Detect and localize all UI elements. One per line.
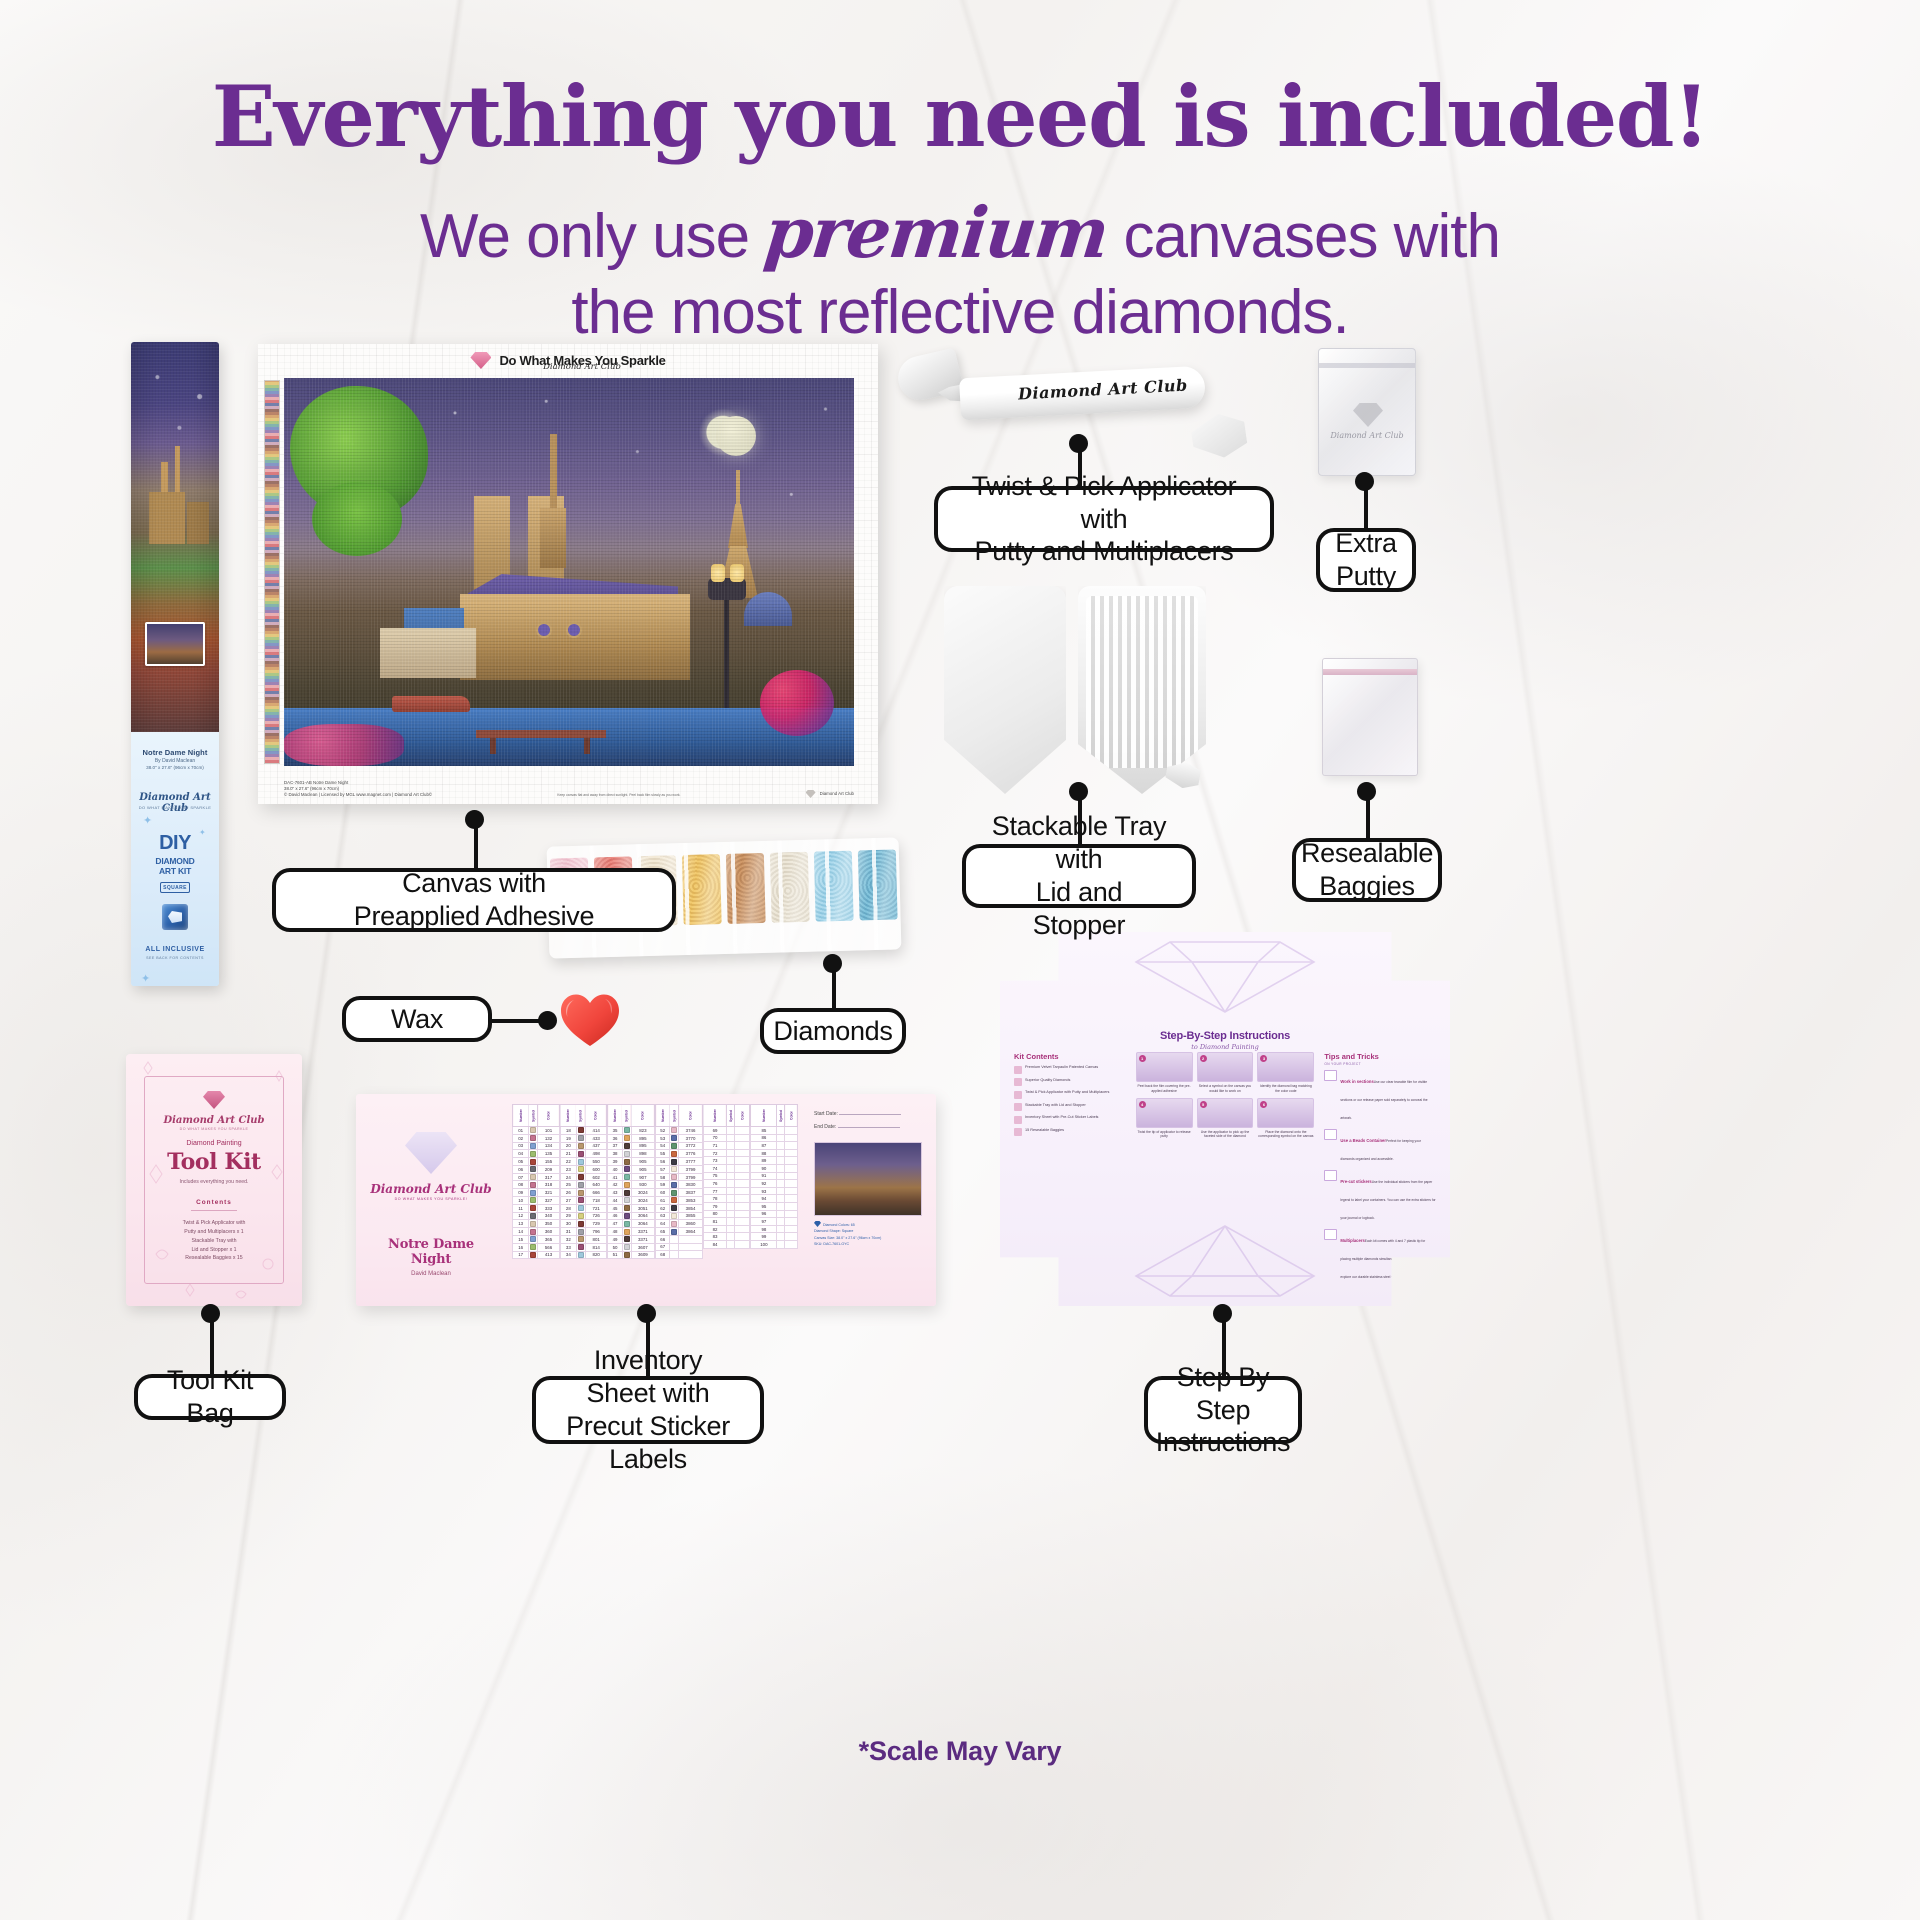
cell-symbol-swatch <box>777 1195 785 1203</box>
cell-color-code: 209 <box>538 1165 559 1173</box>
leader-dot-wax <box>538 1011 557 1030</box>
cell-color-code: 317 <box>538 1173 559 1181</box>
wax-heart-icon <box>559 992 621 1048</box>
color-swatch <box>578 1174 584 1180</box>
cell-color-code: 365 <box>538 1235 559 1243</box>
cell-color-code: 814 <box>585 1243 606 1251</box>
inventory-sheet: Diamond Art Club DO WHAT MAKES YOU SPARK… <box>356 1094 936 1306</box>
cell-symbol-swatch <box>576 1142 585 1150</box>
cell-color-code <box>785 1134 798 1142</box>
inventory-meta-item: Diamond Colors: 65 <box>823 1223 855 1227</box>
cell-number: 33 <box>560 1243 576 1251</box>
step-image: 1 <box>1136 1052 1193 1082</box>
inventory-column: Number Symbol Color 35823368953789538898… <box>607 1104 655 1296</box>
callout-canvas[interactable]: Canvas withPreapplied Adhesive <box>272 868 676 932</box>
table-row: 623854 <box>656 1204 703 1212</box>
table-row: 503607 <box>608 1243 655 1251</box>
instructions-header: Step-By-Step Instructions to Diamond Pai… <box>1000 1030 1450 1051</box>
cell-color-code: 3860 <box>679 1220 702 1228</box>
color-swatch <box>578 1229 584 1235</box>
column-header-number: Number <box>751 1105 777 1127</box>
cell-number: 10 <box>513 1197 529 1205</box>
extra-putty-baggie: Diamond Art Club <box>1318 348 1416 476</box>
cell-symbol-swatch <box>622 1134 631 1142</box>
cell-symbol-swatch <box>576 1165 585 1173</box>
table-row: 69 <box>703 1127 750 1135</box>
cell-color-code: 905 <box>631 1158 654 1166</box>
table-row: 513609 <box>608 1251 655 1259</box>
cell-color-code: 895 <box>631 1134 654 1142</box>
cell-number: 64 <box>656 1220 670 1228</box>
cell-number: 61 <box>656 1197 670 1205</box>
cell-number: 16 <box>513 1243 529 1251</box>
toolkit-content-item: Twist & Pick Applicator with <box>154 1219 274 1228</box>
cell-symbol-swatch <box>727 1218 735 1226</box>
color-swatch <box>578 1244 584 1250</box>
cell-symbol-swatch <box>670 1228 679 1236</box>
cell-number: 41 <box>608 1173 622 1181</box>
cell-symbol-swatch <box>727 1240 735 1248</box>
table-row: 453051 <box>608 1204 655 1212</box>
table-row: 90 <box>751 1164 798 1172</box>
callout-step-by-step[interactable]: Step By StepInstructions <box>1144 1376 1302 1444</box>
table-row: 39905 <box>608 1158 655 1166</box>
cell-symbol-swatch <box>576 1197 585 1205</box>
table-row: 613853 <box>656 1197 703 1205</box>
cell-symbol-swatch <box>777 1172 785 1180</box>
inventory-column: Number Symbol Color 18414194332043721498… <box>560 1104 608 1296</box>
subtitle-script-word: premium <box>761 190 1112 275</box>
cell-number: 07 <box>513 1173 529 1181</box>
cell-symbol-swatch <box>777 1127 785 1135</box>
cell-symbol-swatch <box>622 1189 631 1197</box>
table-row: 76 <box>703 1180 750 1188</box>
table-row: 82 <box>703 1225 750 1233</box>
cell-color-code <box>679 1243 702 1251</box>
table-row: 653864 <box>656 1228 703 1236</box>
cell-number: 43 <box>608 1189 622 1197</box>
cell-number: 78 <box>703 1195 727 1203</box>
cell-symbol-swatch <box>727 1149 735 1157</box>
inventory-column: Number Symbol Color 69707172737475767778… <box>703 1104 751 1296</box>
table-row: 100 <box>751 1240 798 1248</box>
cell-number: 23 <box>560 1165 576 1173</box>
color-swatch <box>530 1236 536 1242</box>
cell-number: 98 <box>751 1225 777 1233</box>
table-row: 85 <box>751 1127 798 1135</box>
color-swatch <box>671 1190 677 1196</box>
callout-tool-kit-bag[interactable]: Tool Kit Bag <box>134 1374 286 1420</box>
toolkit-label: Diamond Art Club DO WHAT MAKES YOU SPARK… <box>144 1076 284 1284</box>
product-infographic: Everything you need is included! We only… <box>0 0 1920 1920</box>
table-row: 68 <box>656 1251 703 1259</box>
cell-color-code: 318 <box>538 1181 559 1189</box>
cell-color-code: 907 <box>631 1173 654 1181</box>
tips-column: Tips and Tricks ON YOUR PROJECT Work in … <box>1324 1052 1436 1288</box>
cell-symbol-swatch <box>670 1134 679 1142</box>
cell-symbol-swatch <box>529 1228 538 1236</box>
color-swatch <box>578 1159 584 1165</box>
cell-symbol-swatch <box>529 1165 538 1173</box>
cell-number: 66 <box>656 1235 670 1243</box>
cell-symbol-swatch <box>727 1157 735 1165</box>
cell-number: 72 <box>703 1149 727 1157</box>
cell-number: 08 <box>513 1181 529 1189</box>
callout-inventory-sheet[interactable]: Inventory Sheet withPrecut Sticker Label… <box>532 1376 764 1444</box>
column-header-number: Number <box>560 1105 576 1127</box>
diamond-icon <box>814 1221 821 1227</box>
cell-color-code: 898 <box>631 1150 654 1158</box>
cell-symbol-swatch <box>529 1181 538 1189</box>
cell-symbol-swatch <box>777 1233 785 1241</box>
cell-color-code: 3799 <box>679 1173 702 1181</box>
diamond-painting-canvas: Do What Makes You Sparkle Diamond Art Cl… <box>258 344 878 804</box>
color-swatch <box>624 1252 630 1258</box>
color-swatch <box>578 1143 584 1149</box>
cell-number: 48 <box>608 1228 622 1236</box>
cell-number: 06 <box>513 1165 529 1173</box>
cell-color-code <box>785 1157 798 1165</box>
kit-contents-item: Twist & Pick Applicator with Putty and M… <box>1014 1090 1126 1099</box>
color-swatch <box>578 1213 584 1219</box>
cell-symbol-swatch <box>670 1220 679 1228</box>
baggie-brand-label: Diamond Art Club <box>1319 431 1415 440</box>
cell-symbol-swatch <box>777 1149 785 1157</box>
cell-color-code <box>785 1127 798 1135</box>
canvas-footer-brand: Diamond Art Club <box>806 790 854 798</box>
cell-number: 100 <box>751 1240 777 1248</box>
table-row: 583799 <box>656 1173 703 1181</box>
table-row: 66 <box>656 1235 703 1243</box>
cell-color-code <box>735 1180 750 1188</box>
start-date-field[interactable] <box>839 1114 901 1115</box>
cell-symbol-swatch <box>529 1189 538 1197</box>
cell-number: 47 <box>608 1220 622 1228</box>
page-subtitle: We only use premium canvases with the mo… <box>0 190 1920 351</box>
toolkit-subtitle: Includes everything you need. <box>180 1179 249 1185</box>
cell-number: 88 <box>751 1149 777 1157</box>
callout-tray-label: Stackable Tray withLid and Stopper <box>986 810 1172 942</box>
cell-number: 54 <box>656 1142 670 1150</box>
cell-color-code: 132 <box>538 1134 559 1142</box>
column-header-symbol: Symbol <box>777 1105 785 1127</box>
cell-symbol-swatch <box>622 1204 631 1212</box>
column-header-number: Number <box>656 1105 670 1127</box>
cell-number: 32 <box>560 1235 576 1243</box>
column-header-color: Color <box>538 1105 559 1127</box>
cell-color-code: 3830 <box>679 1181 702 1189</box>
callout-diamonds[interactable]: Diamonds <box>760 1008 906 1054</box>
table-row: 543772 <box>656 1142 703 1150</box>
inventory-column: Number Symbol Color 85868788899091929394… <box>750 1104 798 1296</box>
cell-symbol-swatch <box>529 1197 538 1205</box>
table-row: 42930 <box>608 1181 655 1189</box>
callout-wax[interactable]: Wax <box>342 996 492 1042</box>
cell-symbol-swatch <box>529 1204 538 1212</box>
cell-symbol-swatch <box>727 1134 735 1142</box>
color-swatch <box>671 1151 677 1157</box>
instructions-subtitle: to Diamond Painting <box>1000 1043 1450 1051</box>
cell-number: 49 <box>608 1235 622 1243</box>
table-row: 88 <box>751 1149 798 1157</box>
canvas-color-legend-strip <box>264 380 280 764</box>
cell-number: 95 <box>751 1202 777 1210</box>
cell-number: 22 <box>560 1158 576 1166</box>
table-row: 40905 <box>608 1165 655 1173</box>
cell-symbol-swatch <box>576 1228 585 1236</box>
tip-item: Use a Beads ContainerPerfect for keeping… <box>1324 1129 1436 1165</box>
leader-dot-applicator <box>1069 434 1088 453</box>
color-swatch <box>530 1182 536 1188</box>
table-row: 433024 <box>608 1189 655 1197</box>
table-row: 09321 <box>513 1189 560 1197</box>
resealable-baggie <box>1322 658 1418 776</box>
cell-color-code <box>735 1157 750 1165</box>
table-row: 75 <box>703 1172 750 1180</box>
leader-dot-toolkit <box>201 1304 220 1323</box>
column-header-number: Number <box>608 1105 622 1127</box>
table-row: 80 <box>703 1210 750 1218</box>
color-swatch <box>671 1127 677 1133</box>
table-row: 97 <box>751 1218 798 1226</box>
cell-symbol-swatch <box>576 1173 585 1181</box>
cell-color-code: 3855 <box>679 1212 702 1220</box>
divider <box>191 1210 237 1211</box>
cell-number: 37 <box>608 1142 622 1150</box>
color-swatch <box>624 1213 630 1219</box>
cell-symbol-swatch <box>777 1218 785 1226</box>
color-swatch <box>530 1213 536 1219</box>
cell-color-code: 602 <box>585 1173 606 1181</box>
cell-color-code: 360 <box>538 1228 559 1236</box>
cell-color-code: 820 <box>585 1251 606 1259</box>
box-diy-label: DIY <box>131 834 219 853</box>
toolkit-content-item: Stackable Tray with <box>154 1237 274 1246</box>
kit-contents-item: Superior Quality Diamonds <box>1014 1078 1126 1087</box>
box-artwork <box>131 342 219 732</box>
callout-applicator[interactable]: Twist & Pick Applicator withPutty and Mu… <box>934 486 1274 552</box>
cell-symbol-swatch <box>576 1251 585 1259</box>
cell-number: 68 <box>656 1251 670 1259</box>
multiplacer-icon <box>1324 1229 1337 1240</box>
cell-color-code <box>785 1210 798 1218</box>
color-swatch <box>578 1197 584 1203</box>
table-row: 01101 <box>513 1127 560 1135</box>
tips-subheading: ON YOUR PROJECT <box>1324 1062 1436 1066</box>
cell-number: 82 <box>703 1225 727 1233</box>
cell-symbol-swatch <box>529 1142 538 1150</box>
canvas-icon <box>1014 1066 1022 1074</box>
cell-symbol-swatch <box>727 1233 735 1241</box>
cell-number: 71 <box>703 1142 727 1150</box>
step-item: 4Twist the tip of applicator to release … <box>1136 1098 1193 1140</box>
color-swatch <box>624 1166 630 1172</box>
cell-number: 60 <box>656 1189 670 1197</box>
cell-number: 28 <box>560 1204 576 1212</box>
cell-number: 79 <box>703 1202 727 1210</box>
callout-instructions-label: Step By StepInstructions <box>1156 1361 1290 1460</box>
inventory-table: Number Symbol Color 52374653377054377255… <box>655 1104 703 1259</box>
cell-color-code: 721 <box>585 1204 606 1212</box>
cell-number: 27 <box>560 1197 576 1205</box>
cell-number: 55 <box>656 1150 670 1158</box>
canvas-care-note: Keep canvas flat and away from direct su… <box>557 793 680 798</box>
callout-resealable-baggies[interactable]: ResealableBaggies <box>1292 838 1442 902</box>
toolkit-title-line1: Diamond Painting <box>186 1140 241 1147</box>
cell-color-code: 3853 <box>679 1197 702 1205</box>
table-row: 04135 <box>513 1150 560 1158</box>
color-swatch <box>530 1151 536 1157</box>
moon <box>716 416 756 456</box>
toolkit-tagline: DO WHAT MAKES YOU SPARKLE <box>180 1127 249 1131</box>
cell-number: 34 <box>560 1251 576 1259</box>
cell-symbol-swatch <box>670 1251 679 1259</box>
box-brand-tagline: DO WHAT MAKES YOU SPARKLE <box>131 805 219 810</box>
cell-number: 11 <box>513 1204 529 1212</box>
cell-color-code: 3024 <box>631 1197 654 1205</box>
inventory-left-panel: Diamond Art Club DO WHAT MAKES YOU SPARK… <box>356 1094 506 1306</box>
table-row: 81 <box>703 1218 750 1226</box>
color-swatch <box>530 1229 536 1235</box>
table-row: 28721 <box>560 1204 607 1212</box>
color-swatch <box>530 1190 536 1196</box>
cell-color-code <box>785 1225 798 1233</box>
stackable-tray-lid <box>944 586 1066 794</box>
color-swatch <box>530 1174 536 1180</box>
canvas-footer: DAC-7601-AB Notre Dame Night 38.0" x 27.… <box>284 780 854 798</box>
color-swatch <box>624 1229 630 1235</box>
table-row: 19433 <box>560 1134 607 1142</box>
cell-number: 25 <box>560 1181 576 1189</box>
cell-color-code: 350 <box>538 1220 559 1228</box>
cell-color-code <box>735 1142 750 1150</box>
leader-dot-diamonds <box>823 954 842 973</box>
cell-symbol-swatch <box>727 1202 735 1210</box>
cell-number: 93 <box>751 1187 777 1195</box>
inventory-table: Number Symbol Color 85868788899091929394… <box>750 1104 798 1249</box>
callout-wax-label: Wax <box>391 1003 443 1036</box>
step-item: 3Identify the diamond bag matching the c… <box>1257 1052 1314 1094</box>
table-row: 603837 <box>656 1189 703 1197</box>
cell-color-code: 135 <box>538 1150 559 1158</box>
cell-symbol-swatch <box>727 1127 735 1135</box>
cell-color-code: 796 <box>585 1228 606 1236</box>
cell-color-code <box>785 1164 798 1172</box>
product-box-packaging: Notre Dame Night By David Maclean 38.0" … <box>131 342 219 986</box>
cell-symbol-swatch <box>622 1228 631 1236</box>
step-by-step-instruction-sheet: Step-By-Step Instructions to Diamond Pai… <box>1000 932 1450 1306</box>
cell-number: 21 <box>560 1150 576 1158</box>
table-row: 78 <box>703 1195 750 1203</box>
table-row: 493371 <box>608 1235 655 1243</box>
cell-color-code <box>785 1202 798 1210</box>
end-date-field[interactable] <box>838 1127 900 1128</box>
diamond-icon <box>1353 403 1383 427</box>
kit-contents-heading: Kit Contents <box>1014 1052 1126 1061</box>
kit-contents-item: 15 Resealable Baggies <box>1014 1128 1126 1137</box>
table-row: 07317 <box>513 1173 560 1181</box>
cell-symbol-swatch <box>777 1210 785 1218</box>
column-header-color: Color <box>785 1105 798 1127</box>
cell-symbol-swatch <box>777 1180 785 1188</box>
subtitle-line2: the most reflective diamonds. <box>571 278 1348 347</box>
cell-symbol-swatch <box>529 1158 538 1166</box>
sticker-icon <box>1324 1170 1337 1181</box>
cell-color-code: 3854 <box>679 1204 702 1212</box>
cell-color-code <box>785 1195 798 1203</box>
cell-color-code: 3799 <box>679 1165 702 1173</box>
cell-number: 52 <box>656 1127 670 1135</box>
cell-symbol-swatch <box>670 1150 679 1158</box>
cell-number: 99 <box>751 1233 777 1241</box>
color-swatch <box>578 1182 584 1188</box>
tip-item: Pre-cut stickersUse the individual stick… <box>1324 1170 1436 1224</box>
cell-color-code: 414 <box>585 1127 606 1135</box>
cell-symbol-swatch <box>576 1150 585 1158</box>
box-brand-name: Diamond Art Club <box>131 792 219 814</box>
steps-column: 1Peel back the film covering the pre-app… <box>1136 1052 1315 1288</box>
table-row: 03134 <box>513 1142 560 1150</box>
color-swatch <box>671 1143 677 1149</box>
cell-symbol-swatch <box>622 1181 631 1189</box>
cell-number: 92 <box>751 1180 777 1188</box>
cell-number: 51 <box>608 1251 622 1259</box>
cell-number: 96 <box>751 1210 777 1218</box>
cell-color-code <box>735 1240 750 1248</box>
color-swatch <box>624 1143 630 1149</box>
step-image: 3 <box>1257 1052 1314 1082</box>
cell-number: 19 <box>560 1134 576 1142</box>
toolkit-contents-heading: Contents <box>196 1199 232 1206</box>
leader-dot-extra-putty <box>1355 472 1374 491</box>
cell-color-code <box>735 1218 750 1226</box>
table-row: 87 <box>751 1142 798 1150</box>
table-row: 95 <box>751 1202 798 1210</box>
table-row: 91 <box>751 1172 798 1180</box>
cell-color-code <box>735 1225 750 1233</box>
cell-number: 36 <box>608 1134 622 1142</box>
column-header-symbol: Symbol <box>622 1105 631 1127</box>
table-row: 05155 <box>513 1158 560 1166</box>
cell-number: 77 <box>703 1187 727 1195</box>
table-row: 553776 <box>656 1150 703 1158</box>
callout-extra-putty[interactable]: ExtraPutty <box>1316 528 1416 592</box>
cell-color-code <box>785 1172 798 1180</box>
cell-color-code: 437 <box>585 1142 606 1150</box>
table-row: 573799 <box>656 1165 703 1173</box>
cell-number: 04 <box>513 1150 529 1158</box>
color-swatch <box>671 1159 677 1165</box>
cell-number: 80 <box>703 1210 727 1218</box>
color-swatch <box>624 1127 630 1133</box>
cell-number: 44 <box>608 1197 622 1205</box>
cell-number: 12 <box>513 1212 529 1220</box>
color-swatch <box>671 1205 677 1211</box>
table-row: 74 <box>703 1164 750 1172</box>
color-swatch <box>578 1135 584 1141</box>
column-header-symbol: Symbol <box>670 1105 679 1127</box>
cell-number: 45 <box>608 1204 622 1212</box>
cell-symbol-swatch <box>670 1235 679 1243</box>
color-swatch <box>530 1197 536 1203</box>
table-row: 31796 <box>560 1228 607 1236</box>
step-image: 2 <box>1197 1052 1254 1082</box>
inventory-dates: Start Date: End Date: <box>814 1108 926 1134</box>
callout-stackable-tray[interactable]: Stackable Tray withLid and Stopper <box>962 844 1196 908</box>
box-shape-badge: SQUARE <box>160 882 190 893</box>
cell-symbol-swatch <box>622 1158 631 1166</box>
cell-symbol-swatch <box>622 1197 631 1205</box>
